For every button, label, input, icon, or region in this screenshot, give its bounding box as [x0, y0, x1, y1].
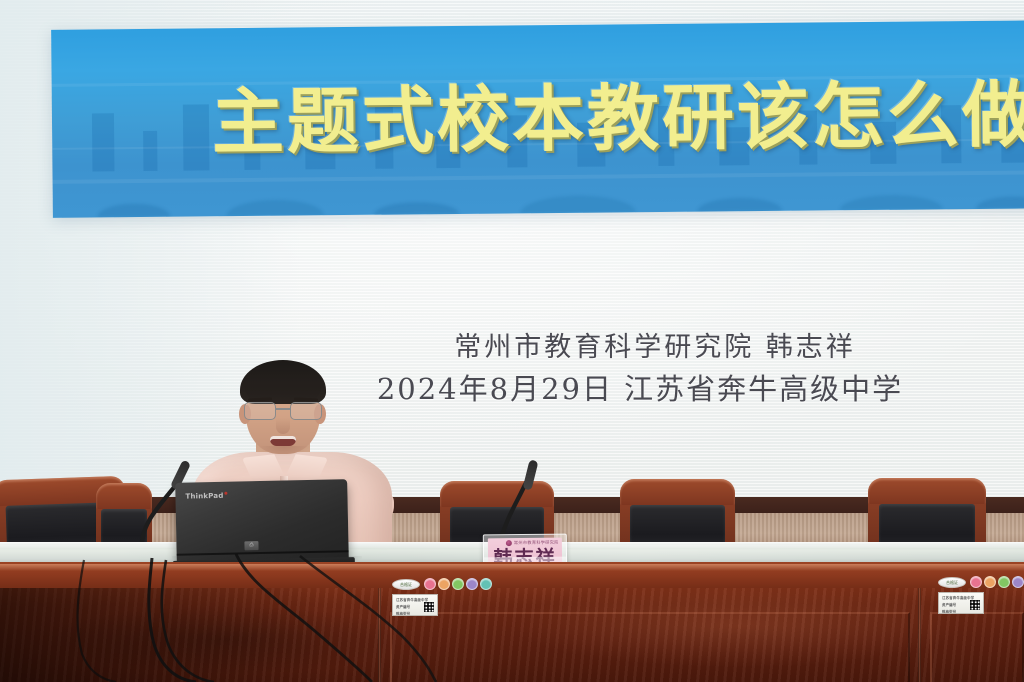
speaker-nose [276, 418, 290, 434]
slide-title-text: 主题式校本教研该怎么做 [212, 69, 1024, 166]
speaker-mouth [270, 436, 296, 446]
lecture-photo-scene: 主题式校本教研该怎么做 常州市教育科学研究院 韩志祥 2024年8月29日 江苏… [0, 0, 1024, 682]
chair-crest-rail [868, 478, 986, 504]
slide-subtitle-line-2: 2024年8月29日 江苏省奔牛高级中学 [300, 368, 980, 410]
glasses-bridge [276, 408, 290, 410]
slide-subtitle-block: 常州市教育科学研究院 韩志祥 2024年8月29日 江苏省奔牛高级中学 [300, 328, 980, 410]
slide-title-banner: 主题式校本教研该怎么做 [51, 20, 1024, 218]
speaker-chin-shading [258, 446, 310, 456]
lens-left [244, 402, 276, 420]
chair-crest-rail [620, 479, 735, 505]
thinkpad-logo: ThinkPad [185, 492, 227, 501]
slide-subtitle-line-1: 常州市教育科学研究院 韩志祥 [300, 328, 980, 368]
hanging-cables [0, 540, 1024, 682]
lens-right [290, 402, 322, 420]
